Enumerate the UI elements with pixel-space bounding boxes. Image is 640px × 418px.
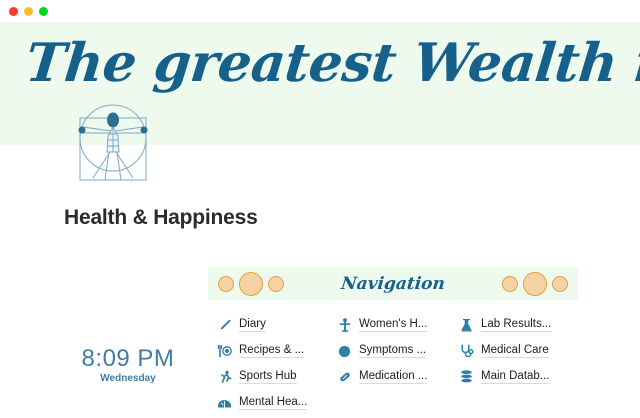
stethoscope-icon (459, 344, 474, 359)
navigation-columns: Diary Recipes & ... (208, 300, 578, 418)
nav-label: Recipes & ... (239, 344, 304, 358)
fork-plate-icon (217, 344, 232, 359)
nav-label: Diary (239, 318, 266, 332)
decor-dots-left (218, 272, 284, 296)
app-window: The greatest Wealth is Health (0, 0, 640, 400)
zoom-button[interactable] (39, 7, 48, 16)
vitruvian-man-logo (63, 100, 163, 182)
nav-item-mental-health[interactable]: Mental Hea... (217, 392, 331, 414)
nav-item-diary[interactable]: Diary (217, 314, 331, 336)
decor-dot (523, 272, 547, 296)
navigation-column-1: Diary Recipes & ... (208, 314, 331, 418)
nav-item-lab-results[interactable]: Lab Results... (459, 314, 577, 336)
close-button[interactable] (9, 7, 18, 16)
nav-item-symptoms[interactable]: Symptoms ... (337, 340, 454, 362)
nav-label: Symptoms ... (359, 344, 426, 358)
nav-label: Medical Care (481, 344, 549, 358)
page-title: Health & Happiness (64, 206, 258, 230)
nav-label: Medication ... (359, 370, 427, 384)
decor-dot (552, 276, 568, 292)
clock-widget: 8:09 PM Wednesday (58, 346, 198, 384)
decor-dot (239, 272, 263, 296)
brain-icon (217, 396, 232, 411)
nav-item-sports-hub[interactable]: Sports Hub (217, 366, 331, 388)
nav-item-main-database[interactable]: Main Datab... (459, 366, 577, 388)
nav-item-recipes[interactable]: Recipes & ... (217, 340, 331, 362)
database-icon (459, 370, 474, 385)
navigation-column-3: Lab Results... Medical Care (454, 314, 577, 418)
pill-icon (337, 370, 352, 385)
nav-label: Lab Results... (481, 318, 551, 332)
banner-title: The greatest Wealth is Health (23, 32, 640, 94)
navigation-panel: Navigation Diary (208, 267, 578, 418)
navigation-header: Navigation (208, 267, 578, 300)
nav-label: Women's H... (359, 318, 427, 332)
nav-label: Mental Hea... (239, 396, 307, 410)
running-person-icon (217, 370, 232, 385)
female-figure-icon (337, 318, 352, 333)
pencil-icon (217, 318, 232, 333)
circle-icon (337, 344, 352, 359)
nav-item-womens-health[interactable]: Women's H... (337, 314, 454, 336)
nav-label: Main Datab... (481, 370, 549, 384)
decor-dot (268, 276, 284, 292)
clock-time: 8:09 PM (58, 346, 198, 371)
clock-day: Wednesday (58, 373, 198, 384)
nav-item-medical-care[interactable]: Medical Care (459, 340, 577, 362)
minimize-button[interactable] (24, 7, 33, 16)
nav-label: Sports Hub (239, 370, 297, 384)
decor-dot (502, 276, 518, 292)
title-bar (0, 0, 640, 22)
decor-dot (218, 276, 234, 292)
flask-icon (459, 318, 474, 333)
navigation-column-2: Women's H... Symptoms ... Medic (331, 314, 454, 418)
nav-item-medication[interactable]: Medication ... (337, 366, 454, 388)
decor-dots-right (502, 272, 568, 296)
